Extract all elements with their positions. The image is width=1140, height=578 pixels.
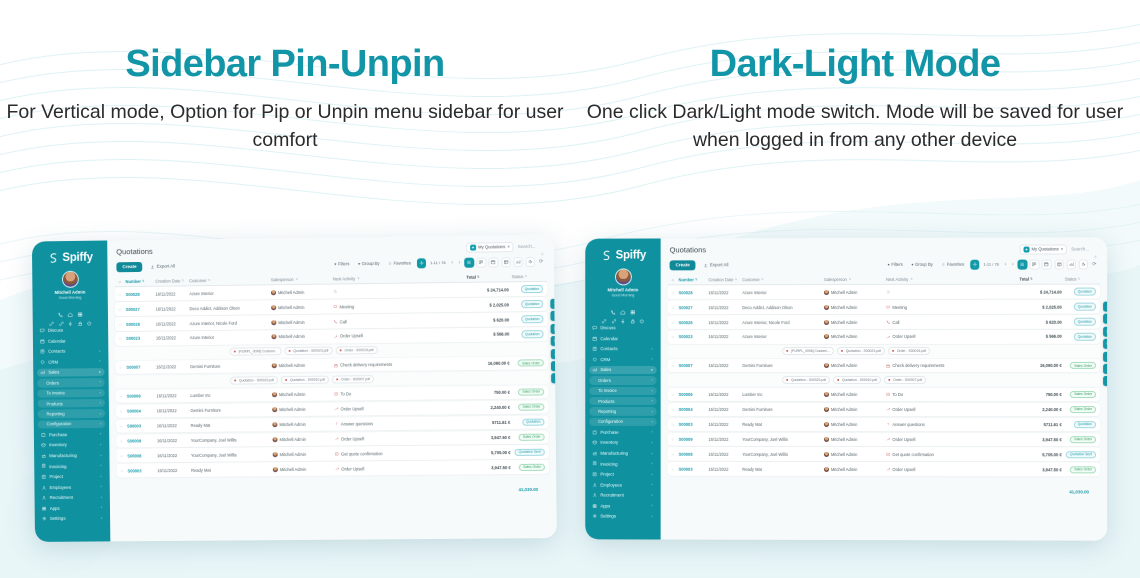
settings-toggle-button[interactable] <box>970 260 980 270</box>
sidebar-item-invoicing[interactable]: Invoicing› <box>589 460 656 468</box>
attachment-chip[interactable]: ■Quotation - S00023.pdf <box>837 347 885 355</box>
status-badge: Quotation <box>1074 333 1096 340</box>
cell-total: 3,947.50 € <box>1019 437 1061 442</box>
row-checkbox[interactable]: ○ <box>672 320 679 325</box>
graph-view-icon[interactable] <box>1066 260 1076 270</box>
cell-salesperson: Mitchell Admin <box>824 319 886 324</box>
chevron-right-icon[interactable]: › <box>100 401 101 405</box>
inventory-icon <box>41 443 46 448</box>
user-profile[interactable]: Mitchell AdminGood Morning <box>36 268 104 299</box>
pdf-icon: ■ <box>892 349 895 353</box>
table-row[interactable]: ○S0000316/11/2022Ready MatMitchell Admin… <box>668 417 1100 431</box>
cell-next-activity[interactable]: Get quote confirmation <box>335 450 469 456</box>
grid-icon[interactable] <box>77 304 83 310</box>
cell-number[interactable]: S00028 <box>679 290 709 295</box>
table-row[interactable]: ○S0002716/11/2022Deco Addict, Addison Ol… <box>668 300 1100 314</box>
sidebar-item-purchase[interactable]: Purchase› <box>589 428 656 436</box>
kanban-view-icon[interactable] <box>1030 260 1040 270</box>
upsell-icon <box>334 407 338 411</box>
employees-icon <box>592 482 597 487</box>
row-checkbox[interactable]: ○ <box>120 409 127 414</box>
sidebar-item-reporting[interactable]: Reporting› <box>589 407 656 415</box>
cell-number[interactable]: S00003 <box>127 423 157 428</box>
pivot-view-icon[interactable] <box>1054 260 1064 270</box>
cell-number[interactable]: S00027 <box>679 305 709 310</box>
sidebar-item-inventory[interactable]: Inventory› <box>38 441 105 450</box>
footer-total: 41,030.00 <box>518 487 538 492</box>
favorites-button[interactable]: ☆ Favorites <box>938 260 967 269</box>
cell-total: 2,240.00 € <box>1019 407 1061 412</box>
cell-number[interactable]: S00006 <box>679 392 709 397</box>
cell-number[interactable]: S00023 <box>679 335 709 340</box>
attachment-chip[interactable]: ■Order - S00007.pdf <box>332 375 374 383</box>
row-checkbox[interactable]: ○ <box>672 466 679 471</box>
filters-button[interactable]: ▾ Filters <box>885 260 906 269</box>
chevron-right-icon[interactable]: › <box>101 506 102 510</box>
select-all-checkbox[interactable]: ○ <box>119 279 126 284</box>
quick-icons-row-1 <box>37 304 104 311</box>
column-header-customer[interactable]: Customer⇅ <box>189 277 271 283</box>
sidebar-item-orders[interactable]: Orders› <box>589 376 656 384</box>
column-header-creation-date[interactable]: Creation Date⇅ <box>708 277 742 282</box>
row-checkbox[interactable]: ○ <box>120 423 127 428</box>
cell-status: Quotation <box>509 315 543 323</box>
cell-status: Quotation <box>1062 303 1096 310</box>
cell-number[interactable]: S00003 <box>679 466 709 471</box>
home-icon[interactable] <box>620 302 626 308</box>
cell-next-activity[interactable]: Order Upsell <box>335 465 469 471</box>
status-badge: Quotation <box>521 330 544 338</box>
list-view-icon[interactable] <box>1018 260 1028 270</box>
strip-history-icon[interactable] <box>550 311 556 321</box>
quick-icons-row-2 <box>589 311 656 317</box>
chevron-right-icon[interactable]: › <box>652 514 653 518</box>
gear-icon[interactable] <box>1093 247 1098 252</box>
activity-view-icon[interactable] <box>1079 260 1089 270</box>
favorites-button[interactable]: ☆ Favorites <box>385 259 414 268</box>
meeting-icon <box>886 305 890 309</box>
chevron-left-icon[interactable]: ‹ <box>1003 261 1008 267</box>
strip-chart-icon[interactable] <box>1103 351 1107 361</box>
kanban-view-icon[interactable] <box>477 258 487 268</box>
sort-icon: ⇅ <box>208 278 211 282</box>
chevron-right-icon[interactable]: › <box>1010 261 1015 267</box>
cell-customer: Ready Mat <box>191 422 273 428</box>
chevron-right-icon[interactable]: › <box>652 441 653 445</box>
chevron-left-icon[interactable]: ‹ <box>450 260 455 266</box>
row-checkbox[interactable]: ○ <box>672 335 679 340</box>
cell-next-activity[interactable]: Order Upsell <box>886 437 1019 442</box>
sidebar-item-contacts[interactable]: Contacts› <box>589 345 656 353</box>
chevron-right-icon[interactable]: › <box>652 472 653 476</box>
row-checkbox[interactable]: ○ <box>120 394 127 399</box>
column-header-total[interactable]: Total⇅ <box>1019 276 1061 281</box>
chevron-right-icon[interactable]: › <box>652 420 653 424</box>
chevron-right-icon[interactable]: › <box>100 443 101 447</box>
sort-icon: ⇅ <box>695 278 698 282</box>
sidebar-item-recruitment[interactable]: Recruitment› <box>38 493 105 502</box>
power-icon[interactable] <box>86 313 92 319</box>
pin-icon[interactable] <box>620 311 626 317</box>
cell-next-activity[interactable]: Get quote confirmation <box>886 452 1019 457</box>
table-row[interactable]: ○S0002616/11/2022Azure Interior, Nicole … <box>668 315 1100 329</box>
sidebar-item-to-invoice[interactable]: To Invoice› <box>37 389 104 398</box>
sidebar-item-crm[interactable]: CRM› <box>589 355 656 363</box>
cell-next-activity[interactable]: Order Upsell <box>335 435 469 441</box>
chevron-right-icon[interactable]: › <box>652 389 653 393</box>
lock-icon[interactable] <box>77 313 83 319</box>
chevron-right-icon[interactable]: › <box>100 411 101 415</box>
chevron-right-icon[interactable]: › <box>101 516 102 520</box>
cell-number[interactable]: S00006 <box>127 393 157 398</box>
column-header-creation-date[interactable]: Creation Date⇅ <box>155 278 189 283</box>
cell-number[interactable]: S00003 <box>679 422 709 427</box>
column-header-status[interactable]: Status⇅ <box>1062 276 1096 281</box>
cell-number[interactable]: S00026 <box>126 321 156 326</box>
cell-total: $ 24,714.00 <box>1019 289 1061 294</box>
call-icon <box>333 319 337 323</box>
sidebar-item-purchase[interactable]: Purchase› <box>38 430 105 439</box>
group-by-button[interactable]: ▾ Group By <box>908 260 935 269</box>
table-row[interactable]: ○S0000916/11/2022YourCompany, Joel Willi… <box>668 432 1100 446</box>
chevron-right-icon[interactable]: › <box>652 409 653 413</box>
table-row[interactable]: ○S0000316/11/2022Ready MatMitchell Admin… <box>668 462 1100 476</box>
attachment-chip[interactable]: ■Quotation - S00023.pdf <box>782 376 830 384</box>
crm-icon <box>40 360 45 365</box>
chevron-right-icon[interactable]: › <box>652 483 653 487</box>
chevron-right-icon[interactable]: › <box>652 493 653 497</box>
strip-settings-gear-icon[interactable] <box>1103 302 1107 312</box>
attachment-chip[interactable]: ■Order - S00007.pdf <box>884 376 926 384</box>
calendar-view-icon[interactable] <box>1042 260 1052 270</box>
link-alt-icon[interactable] <box>611 311 617 317</box>
facet-remove-icon[interactable]: × <box>507 245 510 250</box>
export-all-button[interactable]: Export All <box>700 260 733 269</box>
row-checkbox[interactable]: ○ <box>120 453 127 458</box>
chevron-down-icon[interactable]: ▾ <box>99 370 101 374</box>
upsell-icon <box>335 437 339 441</box>
cell-next-activity[interactable]: Check delivery requirements <box>886 363 1019 368</box>
activity-view-icon[interactable] <box>525 257 535 267</box>
column-header-salesperson[interactable]: Salesperson⇅ <box>271 276 333 282</box>
table-row[interactable]: ○S0000816/11/2022YourCompany, Joel Willi… <box>668 447 1100 461</box>
chevron-right-icon[interactable]: › <box>652 504 653 508</box>
column-header-salesperson[interactable]: Salesperson⇅ <box>824 277 886 282</box>
phone-icon[interactable] <box>57 304 63 310</box>
cell-total: 750.00 € <box>1019 392 1061 397</box>
lock-icon[interactable] <box>629 311 635 317</box>
cell-next-activity[interactable]: Check delivery requirements <box>334 361 468 367</box>
grid-icon[interactable] <box>630 302 636 308</box>
chevron-right-icon[interactable]: › <box>101 474 102 478</box>
chevron-right-icon[interactable]: › <box>100 432 101 436</box>
attachment-chip[interactable]: ■Quotation - S00023.pdf <box>284 347 332 356</box>
sidebar-item-apps[interactable]: Apps› <box>39 504 106 513</box>
cell-next-activity[interactable] <box>886 290 1019 295</box>
cell-number[interactable]: S00008 <box>127 453 157 458</box>
cell-status: Quotation <box>509 330 543 338</box>
cell-creation-date: 16/11/2022 <box>156 336 190 341</box>
chevron-right-icon[interactable]: › <box>101 495 102 499</box>
pivot-view-icon[interactable] <box>501 257 511 267</box>
strip-chart-icon[interactable] <box>551 349 557 359</box>
column-header-number[interactable]: Number⇅ <box>125 278 155 283</box>
chevron-right-icon[interactable]: › <box>457 260 462 266</box>
row-checkbox[interactable]: ○ <box>119 292 126 297</box>
cell-creation-date: 16/11/2022 <box>156 321 190 326</box>
cell-next-activity[interactable]: To Do <box>334 390 468 396</box>
chevron-right-icon[interactable]: › <box>101 485 102 489</box>
cell-number[interactable]: S00009 <box>679 437 709 442</box>
apps-icon <box>592 503 597 508</box>
home-icon[interactable] <box>67 304 73 310</box>
filters-button[interactable]: ▾ Filters <box>331 260 352 269</box>
table-row[interactable]: ○S0002816/11/2022Azure InteriorMitchell … <box>668 285 1100 299</box>
phone-icon[interactable] <box>610 302 616 308</box>
create-button[interactable]: Create <box>116 262 142 272</box>
cell-number[interactable]: S00027 <box>126 306 156 311</box>
sidebar-item-to-invoice[interactable]: To Invoice› <box>589 387 656 395</box>
sidebar-item-label: CRM <box>48 359 96 365</box>
group-by-button[interactable]: ▾ Group By <box>355 259 383 268</box>
table-row[interactable]: ○S0002316/11/2022Azure InteriorMitchell … <box>668 330 1100 344</box>
strip-layout-grid-icon[interactable] <box>551 324 557 334</box>
cell-next-activity[interactable]: Meeting <box>333 302 467 309</box>
chevron-right-icon[interactable]: › <box>652 399 653 403</box>
row-checkbox[interactable]: ○ <box>672 407 679 412</box>
pin-icon[interactable] <box>67 313 73 319</box>
cell-next-activity[interactable]: Answer questions <box>886 422 1019 427</box>
cell-number[interactable]: S00009 <box>127 438 157 443</box>
strip-print-icon[interactable] <box>551 336 557 346</box>
column-header-next-activity[interactable]: Next Activity⇅ <box>886 276 1019 281</box>
sidebar-item-project[interactable]: Project› <box>589 470 656 478</box>
chevron-right-icon[interactable]: › <box>652 451 653 455</box>
sidebar-item-discuss[interactable]: Discuss <box>37 326 104 335</box>
link-icon[interactable] <box>601 311 607 317</box>
sidebar-item-employees[interactable]: Employees› <box>38 483 105 492</box>
search-facet[interactable]: ★My Quotations× <box>1019 244 1067 254</box>
sidebar-item-manufacturing[interactable]: Manufacturing› <box>589 449 656 457</box>
sidebar-item-settings[interactable]: Settings› <box>589 512 656 520</box>
facet-remove-icon[interactable]: × <box>1061 247 1063 252</box>
sidebar-item-configuration[interactable]: Configuration› <box>589 418 656 426</box>
cell-status: Sales Order <box>510 359 544 367</box>
attachment-chip[interactable]: ■Quotation - S00010.pdf <box>281 376 329 385</box>
sidebar-item-employees[interactable]: Employees› <box>589 481 656 489</box>
headline-row: Sidebar Pin-Unpin For Vertical mode, Opt… <box>0 0 1140 154</box>
sidebar-item-invoicing[interactable]: Invoicing› <box>38 462 105 471</box>
row-checkbox[interactable]: ○ <box>120 438 127 443</box>
link-alt-icon[interactable] <box>58 313 64 319</box>
sort-icon: ⇅ <box>182 279 185 283</box>
sidebar-item-orders[interactable]: Orders› <box>37 378 104 387</box>
cell-next-activity[interactable]: Answer questions <box>334 420 468 426</box>
chevron-right-icon[interactable]: › <box>652 462 653 466</box>
chevron-right-icon[interactable]: › <box>100 380 101 384</box>
avatar <box>273 467 278 472</box>
refresh-icon[interactable]: ⟳ <box>1091 261 1098 267</box>
calendar-view-icon[interactable] <box>489 257 499 267</box>
chevron-right-icon[interactable]: › <box>100 391 101 395</box>
sidebar-item-apps[interactable]: Apps› <box>589 502 656 510</box>
delivery-icon <box>886 363 890 367</box>
cell-number[interactable]: S00004 <box>127 408 157 413</box>
sidebar-item-inventory[interactable]: Inventory› <box>589 439 656 447</box>
chevron-right-icon[interactable]: › <box>99 360 100 364</box>
status-badge: Sales Order <box>519 433 545 441</box>
avatar <box>271 305 276 310</box>
create-button[interactable]: Create <box>670 260 696 270</box>
cell-salesperson: Mitchell Admin <box>273 466 335 472</box>
table-row[interactable]: ○S0000316/11/2022Ready MatMitchell Admin… <box>116 415 549 433</box>
link-icon[interactable] <box>48 313 54 319</box>
table-row[interactable]: ○S0000616/11/2022Lumber IncMitchell Admi… <box>668 388 1100 402</box>
avatar[interactable] <box>615 268 632 285</box>
cell-next-activity[interactable]: Meeting <box>886 304 1019 309</box>
sidebar-item-sales[interactable]: Sales▾ <box>37 368 104 377</box>
sidebar-item-sales[interactable]: Sales▾ <box>589 366 656 374</box>
column-header-next-activity[interactable]: Next Activity⇅ <box>333 275 467 282</box>
sidebar-item-project[interactable]: Project› <box>38 472 105 481</box>
column-header-number[interactable]: Number⇅ <box>679 277 709 282</box>
attachment-chip[interactable]: ■Order - S00015.pdf <box>335 346 377 354</box>
cell-number[interactable]: S00004 <box>679 407 709 412</box>
row-checkbox[interactable]: ○ <box>119 336 126 341</box>
sidebar-item-products[interactable]: Products› <box>589 397 656 405</box>
sidebar-item-calendar[interactable]: Calendar <box>589 334 656 342</box>
cell-total: 2,240.00 € <box>468 405 510 410</box>
row-checkbox[interactable]: ○ <box>672 452 679 457</box>
refresh-icon[interactable]: ⟳ <box>538 259 545 265</box>
select-all-checkbox[interactable]: ○ <box>672 277 679 282</box>
cell-next-activity[interactable]: Order Upsell <box>886 407 1019 412</box>
cell-number[interactable]: S00008 <box>679 452 709 457</box>
cell-next-activity[interactable] <box>333 288 467 294</box>
attachment-chip[interactable]: ■[PURPL_0096] Customi... <box>230 347 282 356</box>
cell-next-activity[interactable]: Call <box>886 319 1019 324</box>
sidebar-item-discuss[interactable]: Discuss <box>589 324 656 332</box>
attachment-chip[interactable]: ■Quotation - S00010.pdf <box>833 376 881 384</box>
sidebar-item-manufacturing[interactable]: Manufacturing› <box>38 451 105 460</box>
sidebar-item-label: Discuss <box>600 325 652 330</box>
table-row[interactable]: ○S0000716/11/2022Gemini FurnitureMitchel… <box>668 359 1100 373</box>
column-header-total[interactable]: Total⇅ <box>466 274 508 280</box>
strip-layout-grid-icon[interactable] <box>1103 326 1107 336</box>
sidebar-item-label: Orders <box>598 378 648 383</box>
chevron-right-icon[interactable]: › <box>652 378 653 382</box>
chevron-right-icon[interactable]: › <box>652 347 653 351</box>
chevron-down-icon[interactable]: ▾ <box>651 368 653 372</box>
gear-icon[interactable] <box>540 244 545 249</box>
cell-next-activity[interactable]: Order Upsell <box>333 332 467 339</box>
row-checkbox[interactable]: ○ <box>672 305 679 310</box>
attachment-chip[interactable]: ■[PURPL_0096] Customi... <box>782 347 834 355</box>
invoicing-icon <box>41 464 46 469</box>
list-view-icon[interactable] <box>464 258 474 268</box>
cell-next-activity[interactable]: Order Upsell <box>334 405 468 411</box>
cell-number[interactable]: S00028 <box>126 291 156 296</box>
row-checkbox[interactable]: ○ <box>672 392 679 397</box>
attachment-chip[interactable]: ■Quotation - S00023.pdf <box>230 376 278 385</box>
chevron-right-icon[interactable]: › <box>99 349 100 353</box>
sidebar-item-settings[interactable]: Settings› <box>39 514 106 523</box>
column-header-status[interactable]: Status⇅ <box>509 274 543 279</box>
attachment-chip[interactable]: ■Order - S00015.pdf <box>888 347 930 355</box>
chevron-right-icon[interactable]: › <box>652 357 653 361</box>
cell-customer: Deco Addict, Addison Olson <box>189 305 271 311</box>
sidebar-item-configuration[interactable]: Configuration› <box>38 420 105 429</box>
row-checkbox[interactable]: ○ <box>672 290 679 295</box>
settings-icon <box>592 514 597 519</box>
sidebar-item-reporting[interactable]: Reporting› <box>38 409 105 418</box>
cell-number[interactable]: S00023 <box>126 336 156 341</box>
cell-creation-date: 16/11/2022 <box>708 422 742 427</box>
row-checkbox[interactable]: ○ <box>672 422 679 427</box>
row-checkbox[interactable]: ○ <box>672 363 679 368</box>
search-facet[interactable]: ★My Quotations× <box>466 242 514 253</box>
chevron-right-icon[interactable]: › <box>100 464 101 468</box>
cell-salesperson: Mitchell Admin <box>271 289 333 295</box>
cell-number[interactable]: S00026 <box>679 320 709 325</box>
sidebar-item-crm[interactable]: CRM› <box>37 357 104 366</box>
row-checkbox[interactable]: ○ <box>120 468 127 473</box>
cell-number[interactable]: S00007 <box>679 363 709 368</box>
table-row[interactable]: ○S0000416/11/2022Gemini FurnitureMitchel… <box>668 403 1100 417</box>
facet-icon: ★ <box>470 245 476 250</box>
strip-export-icon[interactable] <box>1103 376 1107 386</box>
strip-export-icon[interactable] <box>551 373 557 383</box>
cell-customer: Gemini Furniture <box>742 363 824 368</box>
cell-creation-date: 16/11/2022 <box>708 335 742 340</box>
search-input[interactable]: Search... <box>518 244 536 249</box>
avatar[interactable] <box>61 271 78 288</box>
chevron-right-icon[interactable]: › <box>100 453 101 457</box>
power-icon[interactable] <box>639 311 645 317</box>
column-header-customer[interactable]: Customer⇅ <box>742 277 824 282</box>
cell-next-activity[interactable]: Order Upsell <box>886 467 1019 472</box>
contacts-icon <box>40 349 45 354</box>
row-checkbox[interactable]: ○ <box>672 437 679 442</box>
strip-history-icon[interactable] <box>1103 314 1107 324</box>
row-checkbox[interactable]: ○ <box>119 322 126 327</box>
chevron-right-icon[interactable]: › <box>100 422 101 426</box>
sidebar-item-contacts[interactable]: Contacts› <box>37 347 104 356</box>
export-all-button[interactable]: Export All <box>146 262 179 272</box>
strip-list-icon[interactable] <box>1103 364 1107 374</box>
row-checkbox[interactable]: ○ <box>119 365 126 370</box>
cell-next-activity[interactable]: To Do <box>886 392 1019 397</box>
settings-toggle-button[interactable] <box>416 258 426 268</box>
cell-status: Sales Order <box>510 403 544 411</box>
cell-next-activity[interactable]: Call <box>333 317 467 324</box>
cell-number[interactable]: S00003 <box>127 468 157 473</box>
strip-print-icon[interactable] <box>1103 339 1107 349</box>
sidebar-item-products[interactable]: Products› <box>38 399 105 408</box>
strip-list-icon[interactable] <box>551 361 557 371</box>
footer-total: 41,030.00 <box>1069 490 1089 495</box>
sidebar-item-recruitment[interactable]: Recruitment› <box>589 491 656 499</box>
sidebar-item-calendar[interactable]: Calendar <box>37 336 104 345</box>
search-input[interactable]: Search... <box>1071 247 1089 252</box>
chevron-right-icon[interactable]: › <box>652 430 653 434</box>
user-profile[interactable]: Mitchell AdminGood Morning <box>589 266 656 297</box>
cell-next-activity[interactable]: Order Upsell <box>886 334 1019 339</box>
graph-view-icon[interactable] <box>513 257 523 267</box>
cell-number[interactable]: S00007 <box>126 365 156 370</box>
strip-settings-gear-icon[interactable] <box>550 299 557 309</box>
row-checkbox[interactable]: ○ <box>119 307 126 312</box>
